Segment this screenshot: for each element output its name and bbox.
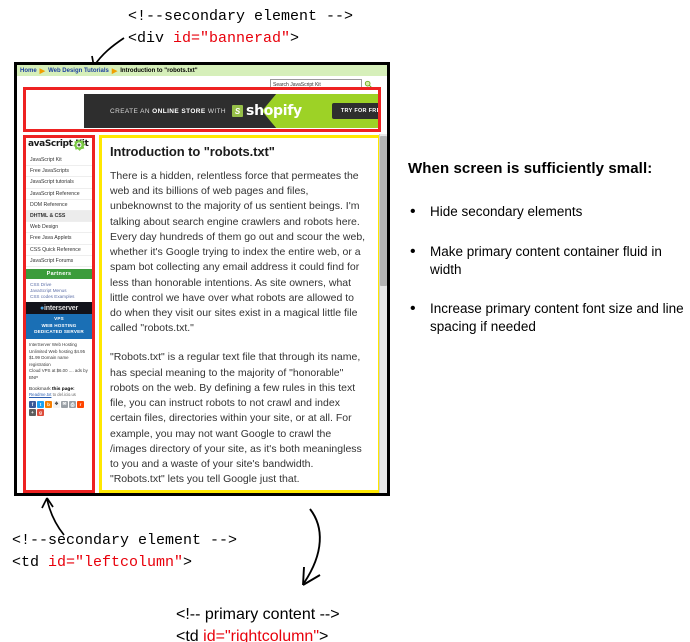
- breadcrumb: Home ▶ Web Design Tutorials ▶ Introducti…: [17, 65, 387, 76]
- notes-title: When screen is sufficiently small:: [408, 160, 684, 177]
- rightcolumn-highlight: Introduction to "robots.txt" There is a …: [99, 135, 381, 493]
- annotation-leftcolumn: <!--secondary element --> <td id="leftco…: [12, 530, 237, 574]
- annotation-rightcolumn: <!-- primary content --> <td id="rightco…: [176, 604, 340, 642]
- annotation-bannerad: <!--secondary element --> <div id="banne…: [128, 6, 353, 50]
- sidebar-item-web-design[interactable]: Web Design: [26, 222, 92, 233]
- annotation-leftcolumn-tag-close: >: [183, 554, 192, 571]
- sidebar-item-javascript-forums[interactable]: JavaScript Forums: [26, 256, 92, 267]
- interserver-banner[interactable]: ●interserver: [26, 302, 92, 314]
- try-for-free-button[interactable]: TRY FOR FREE: [332, 103, 378, 119]
- sidebar-item-free-javascripts[interactable]: Free JavaScripts: [26, 166, 92, 177]
- browser-window: Home ▶ Web Design Tutorials ▶ Introducti…: [14, 62, 390, 496]
- rightcolumn: Introduction to "robots.txt" There is a …: [102, 138, 378, 493]
- notes-panel: When screen is sufficiently small: Hide …: [408, 160, 684, 358]
- windows-share-icon[interactable]: ❖: [53, 401, 60, 408]
- ad-headline-bold: ONLINE STORE: [152, 108, 205, 115]
- interserver-offer[interactable]: VPS WEB HOSTING DEDICATED SERVER: [26, 314, 92, 339]
- interserver-line-dedicated: DEDICATED SERVER: [26, 329, 92, 336]
- interserver-brand: interserver: [44, 305, 78, 312]
- print-share-icon[interactable]: ⎙: [69, 401, 76, 408]
- note-item: Increase primary content font size and l…: [408, 300, 684, 336]
- annotation-bannerad-tag-attr: id="bannerad": [173, 30, 290, 47]
- scrollbar-thumb[interactable]: [380, 136, 387, 286]
- annotation-rightcolumn-tag-close: >: [319, 628, 328, 642]
- interserver-blurb: InterServer Web Hosting Unlimited Web ho…: [26, 339, 92, 384]
- breadcrumb-current: Introduction to "robots.txt": [120, 68, 197, 74]
- ad-headline: CREATE AN ONLINE STORE WITH: [110, 108, 226, 115]
- annotation-bannerad-comment: <!--secondary element -->: [128, 8, 353, 25]
- annotation-bannerad-tag-close: >: [290, 30, 299, 47]
- sidebar-item-dom-reference[interactable]: DOM Reference: [26, 200, 92, 211]
- partner-item-css-codes-examples[interactable]: CSS codes Examples: [30, 294, 88, 300]
- interserver-blurb-body: Unlimited Web hosting $4.95 $1.99 Domain…: [29, 349, 89, 382]
- annotation-leftcolumn-tag-attr: id="leftcolumn": [48, 554, 183, 571]
- interserver-line-webhosting: WEB HOSTING: [26, 323, 92, 330]
- gear-icon: [72, 138, 86, 152]
- partners-list: CSS Drive JavaScript Menus CSS codes Exa…: [26, 279, 92, 302]
- sidebar-item-javascript-kit[interactable]: JavaScript Kit: [26, 155, 92, 166]
- blogger-share-icon[interactable]: b: [45, 401, 52, 408]
- social-share-row: f t b ❖ ✉ ⎙ r + g: [26, 399, 92, 420]
- note-item: Hide secondary elements: [408, 203, 684, 221]
- partners-heading: Partners: [26, 269, 92, 279]
- annotation-rightcolumn-tag-open: <td: [176, 628, 203, 642]
- reddit-share-icon[interactable]: r: [77, 401, 84, 408]
- bannerad[interactable]: CREATE AN ONLINE STORE WITH S shopify TR…: [84, 94, 378, 128]
- vertical-scrollbar[interactable]: [379, 134, 387, 493]
- googleplus-share-icon[interactable]: g: [37, 409, 44, 416]
- annotation-leftcolumn-comment: <!--secondary element -->: [12, 532, 237, 549]
- bannerad-highlight: CREATE AN ONLINE STORE WITH S shopify TR…: [23, 87, 381, 132]
- bookmark-suffix: to del.icio.us: [51, 392, 75, 397]
- article-paragraph: There is a hidden, relentless force that…: [110, 169, 368, 336]
- breadcrumb-item-tutorials[interactable]: Web Design Tutorials: [48, 68, 109, 74]
- sidebar-item-dhtml-css[interactable]: DHTML & CSS: [26, 211, 92, 222]
- annotation-leftcolumn-tag-open: <td: [12, 554, 48, 571]
- facebook-share-icon[interactable]: f: [29, 401, 36, 408]
- ad-headline-pre: CREATE AN: [110, 108, 152, 115]
- sidebar-item-free-java-applets[interactable]: Free Java Applets: [26, 233, 92, 244]
- twitter-share-icon[interactable]: t: [37, 401, 44, 408]
- sidebar-item-javascript-reference[interactable]: JavaScript Reference: [26, 189, 92, 200]
- interserver-blurb-title: InterServer Web Hosting: [29, 342, 89, 349]
- notes-list: Hide secondary elements Make primary con…: [408, 203, 684, 336]
- email-share-icon[interactable]: ✉: [61, 401, 68, 408]
- page-title: Introduction to "robots.txt": [110, 144, 368, 159]
- shopify-bag-icon: S: [232, 105, 243, 117]
- bookmark-link[interactable]: Readme.txt: [29, 392, 51, 397]
- annotation-rightcolumn-comment: <!-- primary content -->: [176, 606, 340, 623]
- shopify-wordmark: shopify: [246, 103, 302, 119]
- chevron-right-icon: ▶: [112, 67, 117, 75]
- shopify-logo: S shopify: [232, 103, 302, 119]
- interserver-line-vps: VPS: [26, 316, 92, 323]
- site-logo[interactable]: avaScript Kit: [26, 138, 92, 155]
- ad-headline-post: WITH: [206, 108, 226, 115]
- leftcolumn: avaScript Kit JavaScript Kit Free JavaSc…: [26, 138, 92, 490]
- article-paragraph: "Robots.txt" is a regular text file that…: [110, 350, 368, 487]
- annotation-rightcolumn-tag-attr: id="rightcolumn": [203, 628, 319, 642]
- sidebar-nav: JavaScript Kit Free JavaScripts JavaScri…: [26, 155, 92, 267]
- leftcolumn-highlight: avaScript Kit JavaScript Kit Free JavaSc…: [23, 135, 95, 493]
- annotation-bannerad-tag-open: <div: [128, 30, 173, 47]
- more-share-icon[interactable]: +: [29, 409, 36, 416]
- sidebar-item-javascript-tutorials[interactable]: JavaScript tutorials: [26, 177, 92, 188]
- chevron-right-icon: ▶: [40, 67, 45, 75]
- arrow-to-rightcolumn: [288, 505, 348, 597]
- note-item: Make primary content container fluid in …: [408, 243, 684, 279]
- sidebar-item-css-quick-reference[interactable]: CSS Quick Reference: [26, 245, 92, 256]
- bookmark-block: Bookmark this page: Readme.txt to del.ic…: [26, 384, 92, 399]
- breadcrumb-item-home[interactable]: Home: [20, 68, 37, 74]
